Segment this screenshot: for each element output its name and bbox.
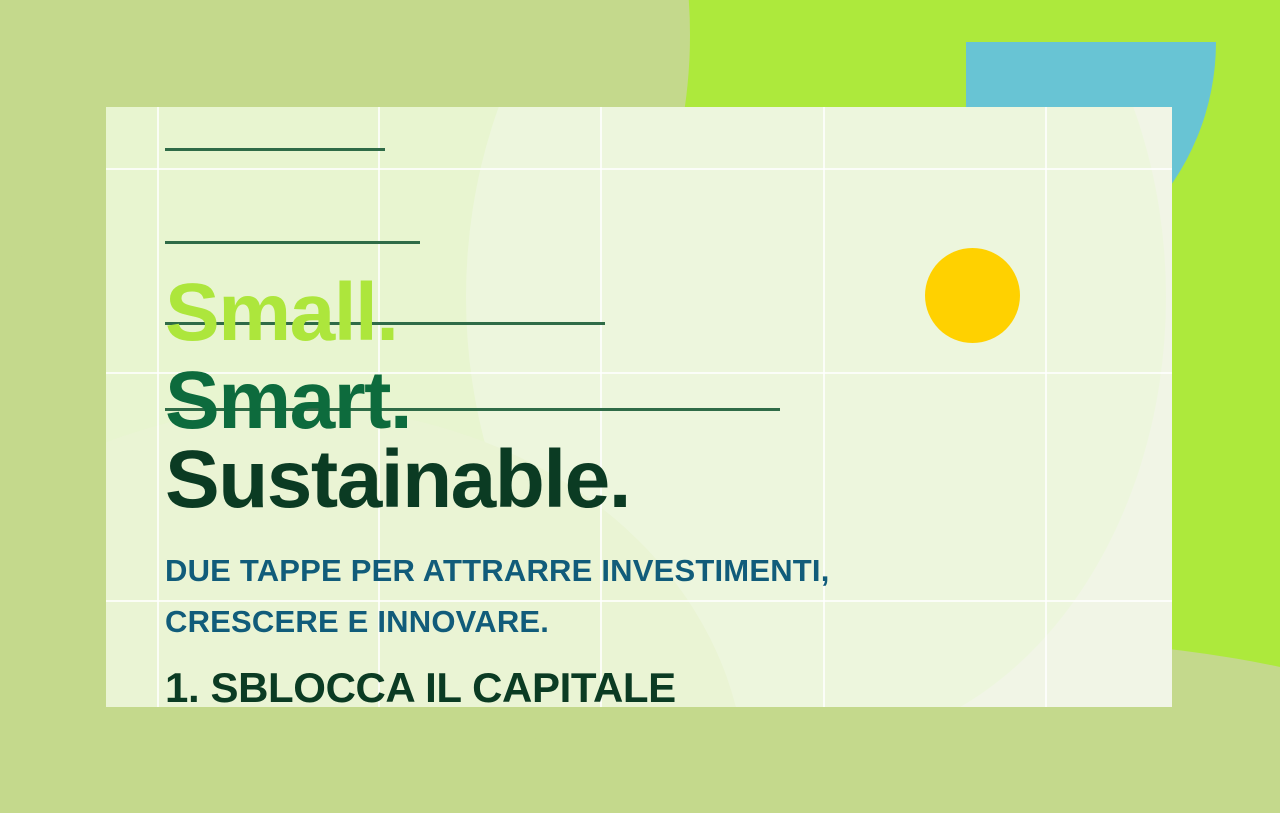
event-title: 1. SBLOCCA IL CAPITALE [165,667,676,707]
subtitle-line-2: CRESCERE E INNOVARE. [165,601,549,643]
grid-line-vertical-1 [157,107,159,707]
rule-above-small [165,148,385,151]
background-band-bottom [0,742,1280,813]
headline-line-small: Small. [165,272,398,354]
headline-line-smart: Smart. [165,360,411,442]
poster-canvas: Small. Smart. Sustainable. DUE TAPPE PER… [0,0,1280,813]
subtitle-line-1: DUE TAPPE PER ATTRARRE INVESTIMENTI, [165,550,830,592]
rule-above-smart [165,241,420,244]
text-content: Small. Smart. Sustainable. DUE TAPPE PER… [165,107,1165,707]
headline-line-sustainable: Sustainable. [165,439,630,521]
circle-dot-shape [925,248,1020,343]
content-card: Small. Smart. Sustainable. DUE TAPPE PER… [106,107,1172,707]
